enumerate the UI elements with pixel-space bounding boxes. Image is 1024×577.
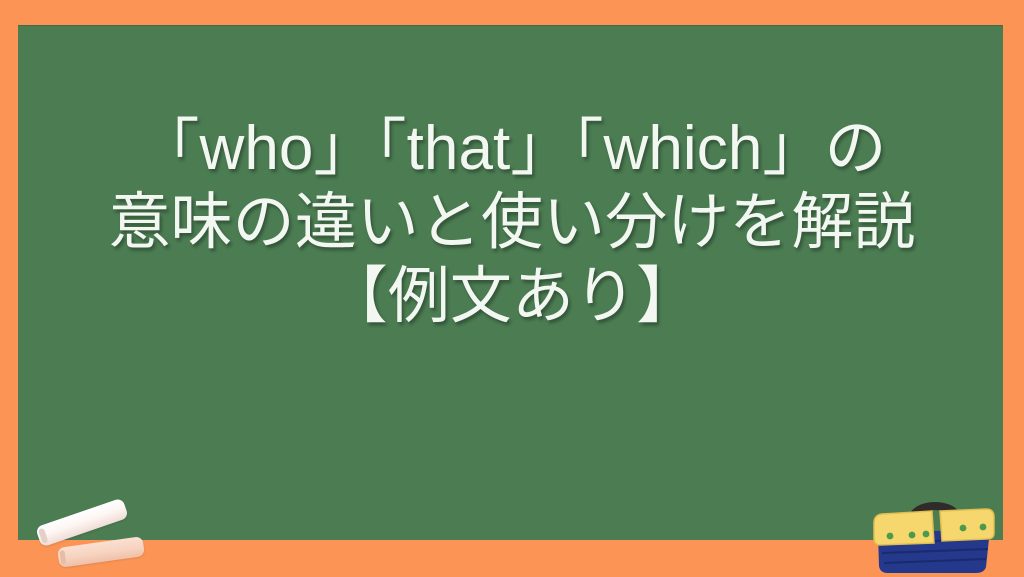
- title-card: 「who」「that」「which」の 意味の違いと使い分けを解説 【例文あり】: [0, 0, 1024, 577]
- toolbox-rivet-icon: [887, 533, 894, 540]
- tan-chalk-icon: [57, 536, 145, 568]
- toolbox-rivet-icon: [980, 524, 987, 531]
- title-line-3: 【例文あり】: [0, 266, 1024, 328]
- page-title: 「who」「that」「which」の 意味の違いと使い分けを解説 【例文あり】: [0, 118, 1024, 328]
- title-line-2: 意味の違いと使い分けを解説: [0, 192, 1024, 254]
- chalk-sticks-icon: [30, 498, 160, 576]
- toolbox-icon: [866, 487, 1000, 577]
- toolbox-rivet-icon: [909, 532, 916, 539]
- toolbox-rivet-icon: [923, 531, 930, 538]
- toolbox-lid-right-icon: [940, 509, 994, 541]
- toolbox-lid-left-icon: [874, 511, 934, 545]
- title-line-1: 「who」「that」「which」の: [0, 118, 1024, 180]
- toolbox-rivet-icon: [960, 525, 967, 532]
